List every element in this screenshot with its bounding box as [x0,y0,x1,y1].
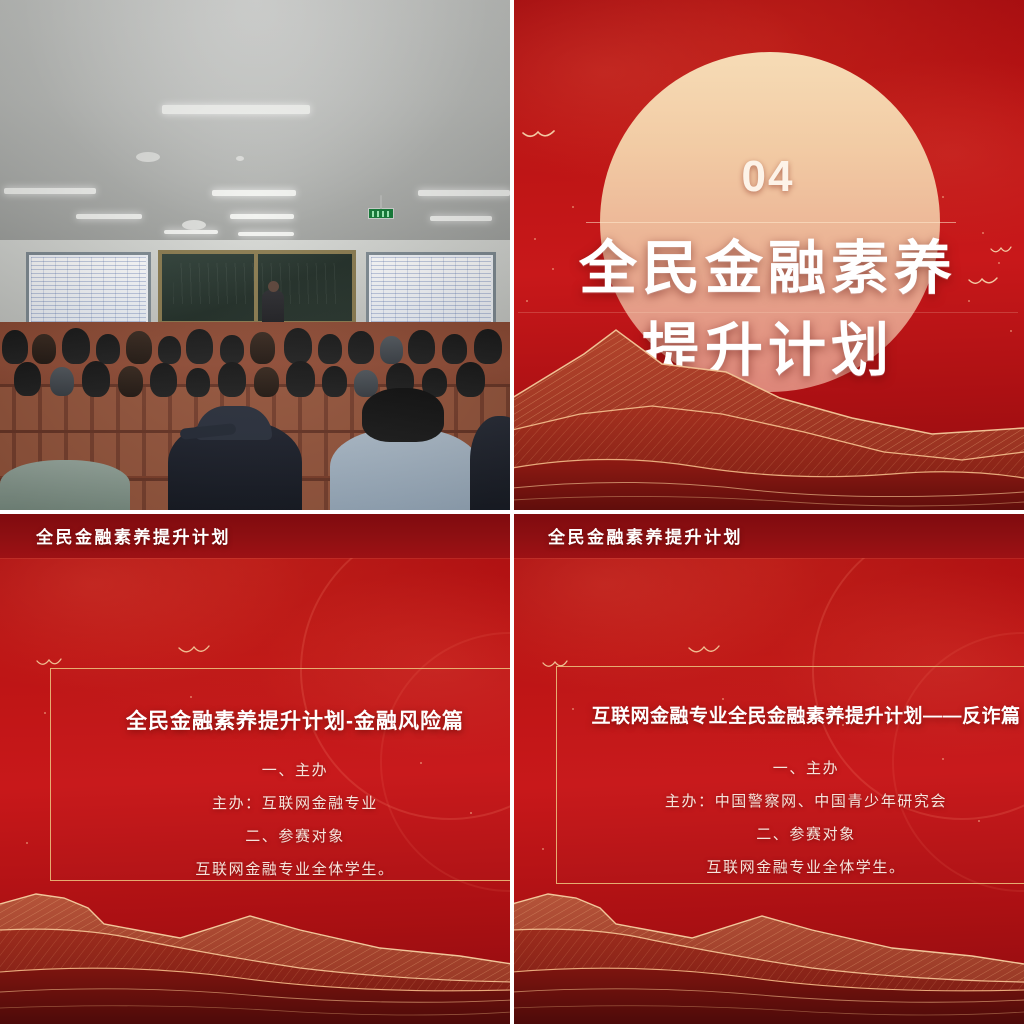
projector-screen-right [366,252,496,328]
section-number: 04 [512,152,1024,202]
ceiling-dome-light [182,220,206,230]
panel-seam-horizontal [0,510,1024,514]
baseball-cap [196,406,272,440]
slide-header-label: 全民金融素养提升计划 [36,523,231,548]
body-line: 二、参赛对象 [51,829,512,844]
mountain-graphic [512,302,1024,512]
slide-risk-background: 全民金融素养提升计划 全民金融素养提升计划-金融风险篇 一、主办 主办：互联网金… [0,512,512,1024]
horizon-line [586,222,956,223]
student-head [362,388,444,442]
cover-background: 04 全民金融素养 提升计划 [512,0,1024,512]
bird-icon [178,644,210,657]
cover-title-line-1: 全民金融素养 [512,236,1024,302]
card-title: 全民金融素养提升计划-金融风险篇 [51,705,512,735]
content-card: 全民金融素养提升计划-金融风险篇 一、主办 主办：互联网金融专业 二、参赛对象 … [50,668,512,881]
chalkboard-divider [254,250,258,325]
panel-photo [0,0,512,512]
card-body: 一、主办 主办：中国警察网、中国青少年研究会 二、参赛对象 互联网金融专业全体学… [557,761,1024,875]
ceiling-light [418,190,510,196]
body-line: 一、主办 [51,763,512,778]
mountain-graphic [0,864,512,1024]
ceiling-light [238,232,294,236]
ceiling-light [4,188,96,194]
ceiling [0,0,512,248]
student-right-edge [470,416,512,512]
ceiling-light [164,230,218,234]
card-body: 一、主办 主办：互联网金融专业 二、参赛对象 互联网金融专业全体学生。 [51,763,512,877]
body-line: 一、主办 [557,761,1024,776]
exit-sign-hanger [380,195,382,209]
bird-icon [688,644,720,657]
panel-slide-risk: 全民金融素养提升计划 全民金融素养提升计划-金融风险篇 一、主办 主办：互联网金… [0,512,512,1024]
ceiling-light [212,190,296,196]
ceiling-light [430,216,492,221]
student-backpack [0,460,130,512]
body-line: 主办：互联网金融专业 [51,796,512,811]
bird-icon [522,128,556,142]
slide-header-label: 全民金融素养提升计划 [548,523,743,548]
slide-header-bar: 全民金融素养提升计划 [512,512,1024,558]
ceiling-light [230,214,294,219]
body-line: 二、参赛对象 [557,827,1024,842]
foreground-students [0,392,512,512]
mountain-graphic [512,864,1024,1024]
exit-sign-icon [368,208,394,219]
ceiling-light [162,105,310,114]
slide-header-bar: 全民金融素养提升计划 [0,512,512,558]
poster-collage: 04 全民金融素养 提升计划 [0,0,1024,1024]
panel-section-cover: 04 全民金融素养 提升计划 [512,0,1024,512]
ceiling-light [76,214,142,219]
projector-screen-left [26,252,151,328]
card-title: 互联网金融专业全民金融素养提升计划——反诈篇 [557,701,1024,728]
content-card: 互联网金融专业全民金融素养提升计划——反诈篇 一、主办 主办：中国警察网、中国青… [556,666,1024,884]
slide-antifraud-background: 全民金融素养提升计划 互联网金融专业全民金融素养提升计划——反诈篇 一、主办 主… [512,512,1024,1024]
body-line: 主办：中国警察网、中国青少年研究会 [557,794,1024,809]
ceiling-dome-light [136,152,160,162]
panel-slide-antifraud: 全民金融素养提升计划 互联网金融专业全民金融素养提升计划——反诈篇 一、主办 主… [512,512,1024,1024]
lecture-hall-photo [0,0,512,512]
ceiling-dome-light [236,156,244,161]
